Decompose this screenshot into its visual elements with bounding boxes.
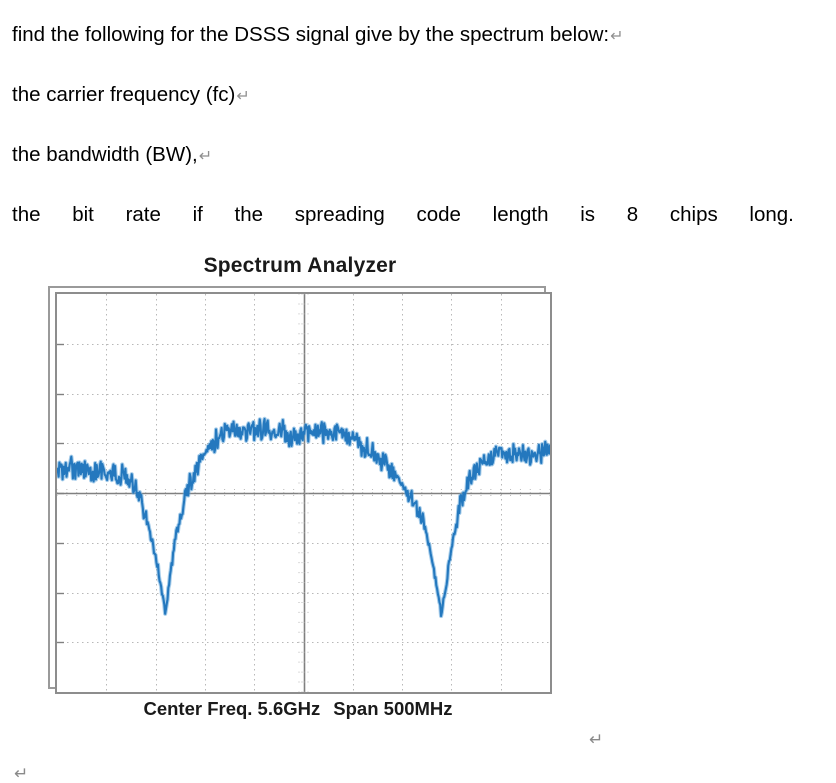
question-line-4-word: the [12, 186, 41, 244]
question-line-2-text: the carrier frequency (fc) [12, 83, 235, 106]
question-line-4-word: bit [72, 186, 94, 244]
span-label: Span 500MHz [333, 698, 452, 719]
return-mark-icon: ↵ [198, 148, 212, 165]
question-line-4-word: if [193, 186, 203, 244]
question-line-1: find the following for the DSSS signal g… [12, 6, 824, 66]
spectrum-trace [57, 419, 550, 616]
question-line-4-word: spreading [295, 186, 385, 244]
question-line-4-word: chips [670, 186, 718, 244]
question-line-4-word: rate [126, 186, 161, 244]
chart-title: Spectrum Analyzer [50, 254, 550, 278]
return-mark-icon: ↵ [589, 731, 603, 748]
question-line-2: the carrier frequency (fc)↵ [12, 66, 824, 126]
question-line-4-word: long. [749, 186, 793, 244]
spectrum-analyzer-figure: Spectrum Analyzer Center Freq. 5.6GHzSpa… [0, 250, 600, 500]
question-line-1-text: find the following for the DSSS signal g… [12, 23, 609, 46]
center-freq-label: Center Freq. 5.6GHz [143, 698, 320, 719]
spectrum-plot-svg [57, 294, 550, 692]
return-mark-icon: ↵ [609, 28, 623, 45]
question-line-4-word: 8 [627, 186, 638, 244]
plot-inner-frame [55, 292, 552, 694]
question-line-4-word: code [417, 186, 461, 244]
question-line-4-word: the [235, 186, 264, 244]
return-mark-icon: ↵ [235, 88, 249, 105]
chart-caption: Center Freq. 5.6GHzSpan 500MHz [48, 698, 548, 720]
question-text-block: find the following for the DSSS signal g… [12, 6, 824, 244]
plot-area [57, 294, 550, 692]
question-line-4-word: is [580, 186, 595, 244]
plot-outer-frame [48, 286, 546, 689]
question-line-3-text: the bandwidth (BW), [12, 143, 198, 166]
question-line-4-word: length [493, 186, 549, 244]
question-line-4: thebitrateifthespreadingcodelengthis8chi… [12, 186, 794, 244]
spectrum-trace-halo [57, 419, 550, 616]
return-mark-icon: ↵ [14, 765, 28, 782]
question-line-3: the bandwidth (BW),↵ [12, 126, 824, 186]
